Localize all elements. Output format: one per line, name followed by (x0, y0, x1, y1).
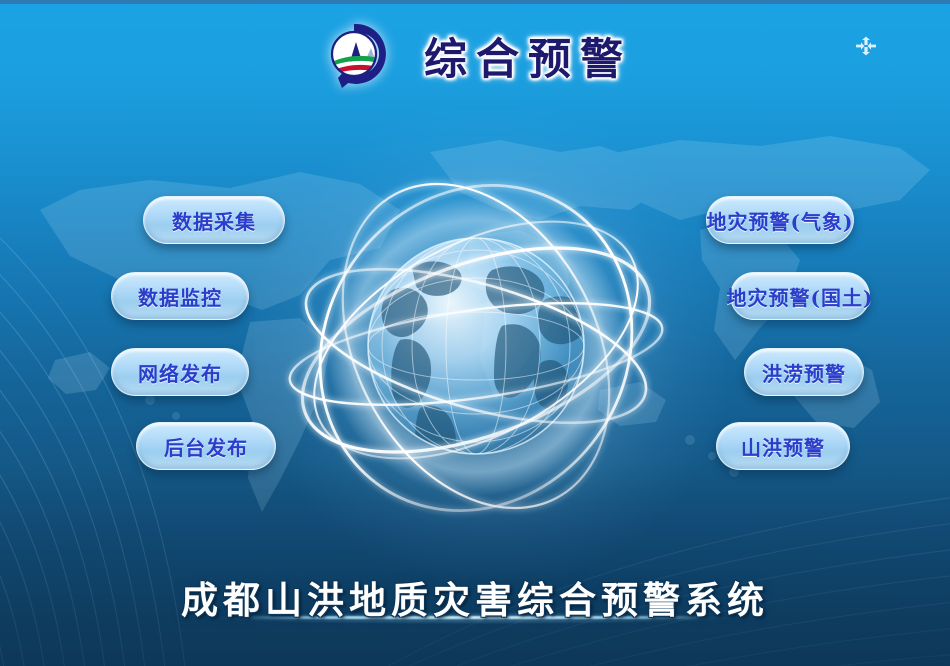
menu-label: 网络发布 (138, 358, 222, 387)
menu-label: 洪涝预警 (762, 358, 846, 387)
menu-label: 地灾预警(气象) (707, 206, 854, 235)
menu-label: 数据监控 (138, 282, 222, 311)
fullscreen-expand-icon[interactable] (855, 36, 877, 56)
menu-backend-publish[interactable]: 后台发布 (136, 422, 276, 470)
menu-geo-warning-land[interactable]: 地灾预警(国土) (730, 272, 870, 320)
page-title: 综合预警 (424, 25, 632, 87)
mountain-emblem-logo (318, 20, 390, 92)
header: 综合预警 (0, 0, 950, 110)
menu-data-monitoring[interactable]: 数据监控 (111, 272, 249, 320)
menu-label: 地灾预警(国土) (727, 282, 874, 311)
top-accent-bar (0, 0, 950, 4)
menu-geo-warning-meteorology[interactable]: 地灾预警(气象) (706, 196, 854, 244)
menu-label: 山洪预警 (741, 432, 825, 461)
menu-data-collection[interactable]: 数据采集 (143, 196, 285, 244)
menu-web-publish[interactable]: 网络发布 (111, 348, 249, 396)
menu-flash-flood-warning[interactable]: 山洪预警 (716, 422, 850, 470)
system-title: 成都山洪地质灾害综合预警系统 (0, 570, 950, 624)
menu-label: 后台发布 (164, 432, 248, 461)
menu-flood-warning[interactable]: 洪涝预警 (744, 348, 864, 396)
app-screen: 综合预警 数据采集 数据监控 网络发布 后台发布 地灾预警(气象) 地灾预警(国… (0, 0, 950, 666)
menu-label: 数据采集 (172, 206, 256, 235)
